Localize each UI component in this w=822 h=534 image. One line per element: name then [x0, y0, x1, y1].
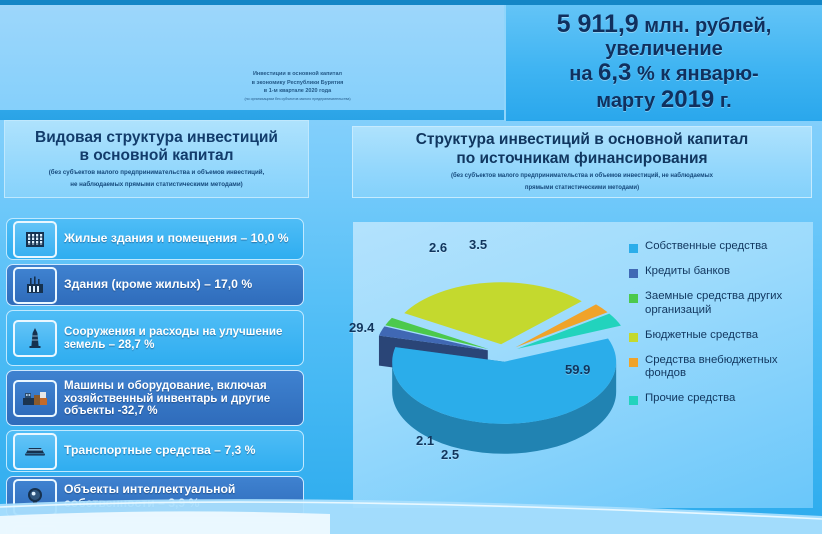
report-title-line1: Инвестиции в основной капитал — [205, 70, 390, 79]
residential-building-icon — [13, 221, 57, 258]
left-title-line2: в основной капитал — [79, 147, 233, 165]
header-period-year: 2019 — [661, 86, 714, 113]
header-amount-unit: млн. рублей, — [644, 15, 771, 37]
investment-type-label: Жилые здания и помещения – 10,0 % — [64, 232, 289, 246]
pie-chart — [353, 228, 643, 498]
investment-type-label: Машины и оборудование, включая хозяйстве… — [64, 379, 297, 418]
investment-type-item[interactable]: Машины и оборудование, включая хозяйстве… — [6, 370, 304, 426]
pie-data-label: 2.1 — [416, 433, 434, 448]
left-title-note1: (без субъектов малого предпринимательств… — [49, 169, 265, 177]
tower-structure-icon — [13, 320, 57, 357]
legend-label: Собственные средства — [645, 240, 767, 254]
investment-type-item[interactable]: Здания (кроме жилых) – 17,0 % — [6, 264, 304, 306]
legend-swatch — [629, 294, 638, 303]
right-panel-title: Структура инвестиций в основной капитал … — [352, 126, 812, 198]
header-amount-value: 5 911,9 — [557, 10, 639, 38]
header-summary: 5 911,9 млн. рублей, увеличение на 6,3 %… — [510, 6, 818, 118]
header-growth-line: на 6,3 % к январю- — [569, 60, 758, 87]
legend-label: Заемные средства других организаций — [645, 290, 809, 318]
legend-label: Бюджетные средства — [645, 329, 758, 343]
report-subtitle: (по организациям без субъектов малого пр… — [205, 97, 390, 102]
legend-item[interactable]: Бюджетные средства — [629, 329, 809, 343]
investment-type-label: Здания (кроме жилых) – 17,0 % — [64, 278, 252, 292]
report-title: Инвестиции в основной капитал в экономик… — [205, 70, 390, 102]
pie-chart-svg — [353, 228, 643, 498]
legend-label: Средства внебюджетных фондов — [645, 354, 809, 382]
header-growth-pct: 6,3 — [598, 59, 631, 86]
legend-item[interactable]: Средства внебюджетных фондов — [629, 354, 809, 382]
left-title-line1: Видовая структура инвестиций — [35, 129, 278, 147]
legend-item[interactable]: Прочие средства — [629, 392, 809, 406]
legend-swatch — [629, 333, 638, 342]
header-growth-prefix: на — [569, 63, 592, 85]
header-period-prefix: марту — [596, 90, 655, 112]
report-title-line3: в 1-м квартале 2020 года — [205, 87, 390, 96]
legend-item[interactable]: Кредиты банков — [629, 265, 809, 279]
bottom-swoosh-decoration — [0, 464, 822, 534]
pie-data-label: 59.9 — [565, 362, 590, 377]
infographic-root: Инвестиции в основной капитал в экономик… — [0, 0, 822, 534]
header-amount-line: 5 911,9 млн. рублей, — [557, 10, 772, 38]
investment-type-label: Транспортные средства – 7,3 % — [64, 444, 255, 458]
investment-type-label: Сооружения и расходы на улучшение земель… — [64, 325, 297, 351]
legend-swatch — [629, 358, 638, 367]
non-residential-building-icon — [13, 267, 57, 304]
left-title-note2: не наблюдаемых прямыми статистическими м… — [70, 181, 242, 189]
pie-data-label: 3.5 — [469, 237, 487, 252]
legend-swatch — [629, 396, 638, 405]
legend-label: Кредиты банков — [645, 265, 730, 279]
header-period-suffix: г. — [720, 90, 732, 112]
legend-label: Прочие средства — [645, 392, 735, 406]
right-title-line2: по источникам финансирования — [456, 150, 707, 168]
right-title-line1: Структура инвестиций в основной капитал — [416, 131, 749, 149]
report-title-line2: в экономику Республики Бурятия — [205, 79, 390, 88]
legend-item[interactable]: Заемные средства других организаций — [629, 290, 809, 318]
pie-data-label: 2.5 — [441, 447, 459, 462]
left-panel-title: Видовая структура инвестиций в основной … — [4, 120, 309, 198]
right-title-note2: прямыми статистическими методами) — [525, 184, 639, 192]
legend-swatch — [629, 269, 638, 278]
header-growth-word: увеличение — [605, 38, 723, 60]
chart-legend: Собственные средстваКредиты банковЗаемны… — [629, 240, 809, 417]
swoosh-svg — [0, 464, 822, 534]
pie-data-label: 2.6 — [429, 240, 447, 255]
legend-item[interactable]: Собственные средства — [629, 240, 809, 254]
pie-data-label: 29.4 — [349, 320, 374, 335]
machinery-equipment-icon — [13, 380, 57, 417]
right-title-note1: (без субъектов малого предпринимательств… — [451, 172, 713, 180]
header-growth-suffix: % к январю- — [637, 63, 759, 85]
investment-type-item[interactable]: Сооружения и расходы на улучшение земель… — [6, 310, 304, 366]
investment-type-item[interactable]: Жилые здания и помещения – 10,0 % — [6, 218, 304, 260]
legend-swatch — [629, 244, 638, 253]
header-period-line: марту 2019 г. — [596, 87, 731, 114]
